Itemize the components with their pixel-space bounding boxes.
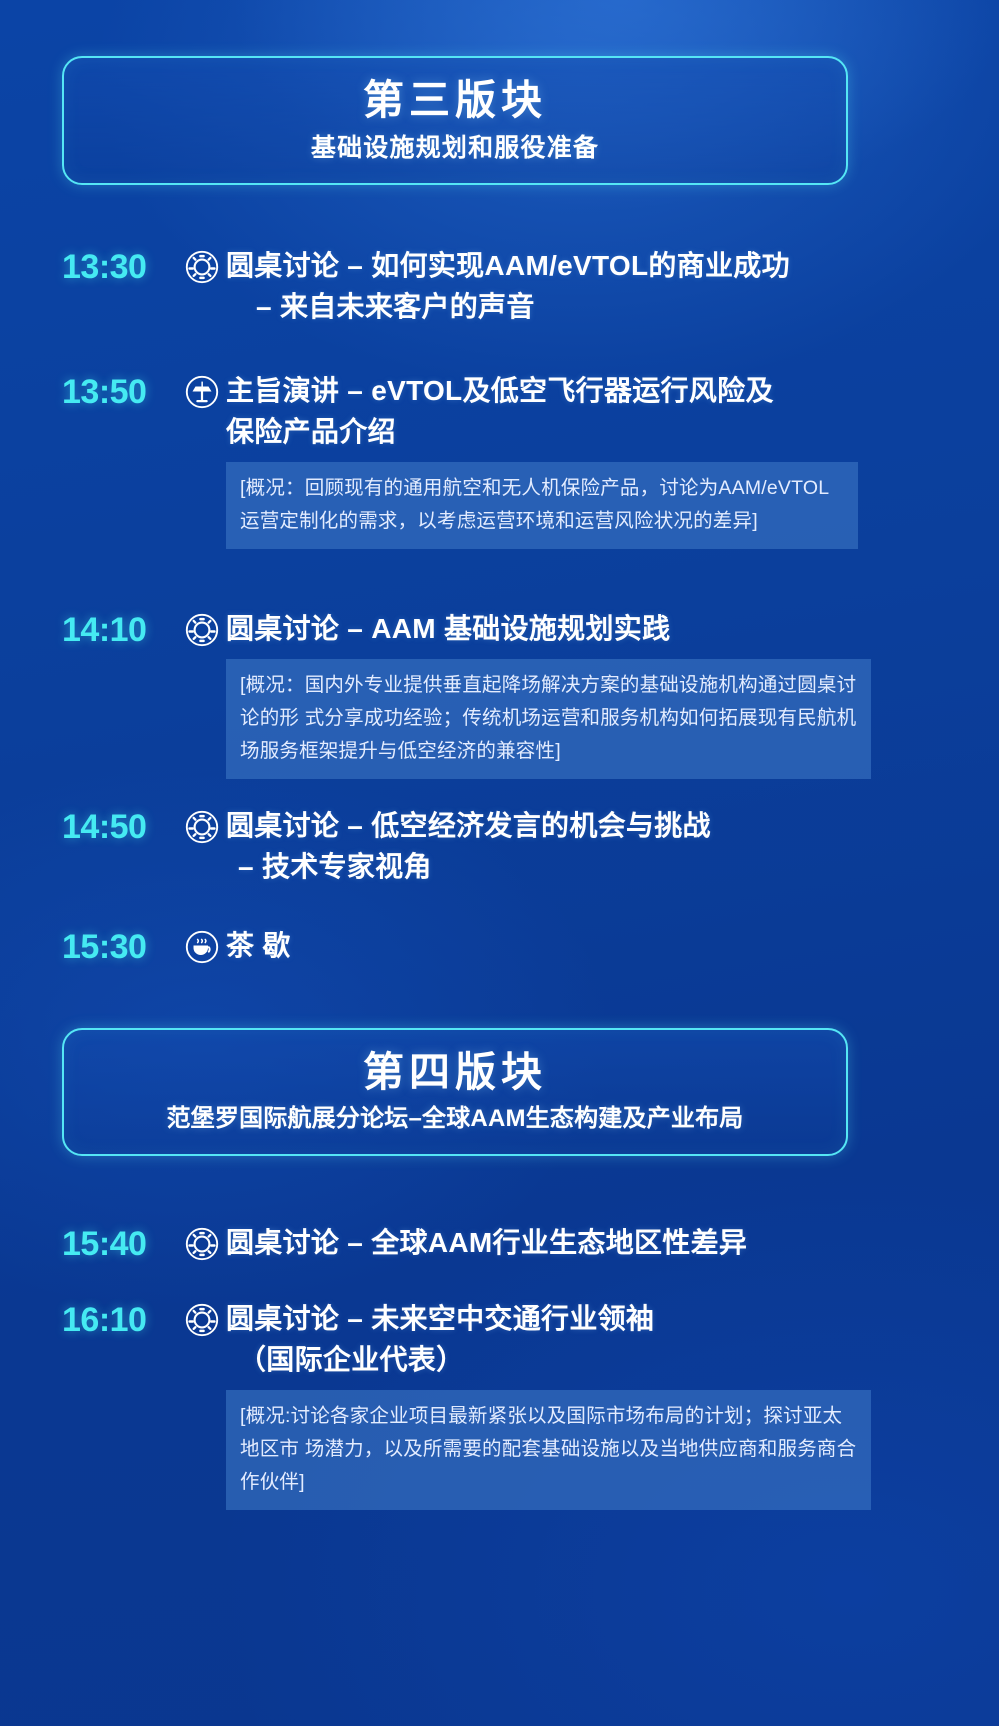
agenda-time: 14:10: [62, 608, 178, 652]
agenda-body: 茶 歇: [226, 925, 942, 966]
agenda-time: 16:10: [62, 1298, 178, 1342]
teacup-icon: [178, 925, 226, 969]
section-banner-3: 第三版块 基础设施规划和服役准备: [62, 56, 848, 185]
roundtable-icon: [178, 608, 226, 652]
section-4-title: 第四版块: [74, 1049, 836, 1096]
roundtable-icon: [178, 1298, 226, 1342]
agenda-title-line1: 主旨演讲 – eVTOL及低空飞行器运行风险及: [226, 375, 774, 406]
agenda-title: 圆桌讨论 – 低空经济发言的机会与挑战 – 技术专家视角: [226, 805, 942, 887]
roundtable-icon: [178, 245, 226, 289]
agenda-body: 圆桌讨论 – 如何实现AAM/eVTOL的商业成功 – 来自未来客户的声音: [226, 245, 942, 327]
agenda-row: 14:10 圆桌讨论 – AAM 基础设施规划实践 [概况：国内外专业提供垂直起…: [62, 608, 942, 779]
agenda-body: 圆桌讨论 – 低空经济发言的机会与挑战 – 技术专家视角: [226, 805, 942, 887]
agenda-body: 主旨演讲 – eVTOL及低空飞行器运行风险及 保险产品介绍 [概况：回顾现有的…: [226, 370, 942, 549]
agenda-body: 圆桌讨论 – 全球AAM行业生态地区性差异: [226, 1222, 942, 1263]
agenda-title: 圆桌讨论 – 未来空中交通行业领袖 （国际企业代表）: [226, 1298, 942, 1380]
agenda-title: 主旨演讲 – eVTOL及低空飞行器运行风险及 保险产品介绍: [226, 370, 942, 452]
agenda-title: 圆桌讨论 – 如何实现AAM/eVTOL的商业成功 – 来自未来客户的声音: [226, 245, 942, 327]
agenda-row: 15:30 茶 歇: [62, 925, 942, 969]
agenda-title-line1: 圆桌讨论 – 如何实现AAM/eVTOL的商业成功: [226, 250, 790, 281]
agenda-title: 圆桌讨论 – 全球AAM行业生态地区性差异: [226, 1222, 942, 1263]
agenda-row: 14:50 圆桌讨论 – 低空经济发言的机会与挑战 – 技术专家视角: [62, 805, 942, 887]
agenda-time: 15:40: [62, 1222, 178, 1266]
agenda-description: [概况：国内外专业提供垂直起降场解决方案的基础设施机构通过圆桌讨论的形 式分享成…: [226, 659, 871, 779]
agenda-title-line1: 圆桌讨论 – 未来空中交通行业领袖: [226, 1303, 654, 1334]
agenda-body: 圆桌讨论 – AAM 基础设施规划实践 [概况：国内外专业提供垂直起降场解决方案…: [226, 608, 942, 779]
section-3-subtitle: 基础设施规划和服役准备: [74, 133, 836, 163]
agenda-time: 13:50: [62, 370, 178, 414]
agenda-time: 15:30: [62, 925, 178, 969]
agenda-title-line1: 圆桌讨论 – 低空经济发言的机会与挑战: [226, 810, 711, 841]
section-banner-4: 第四版块 范堡罗国际航展分论坛–全球AAM生态构建及产业布局: [62, 1028, 848, 1156]
roundtable-icon: [178, 805, 226, 849]
section-3-title: 第三版块: [74, 77, 836, 124]
section-4-subtitle: 范堡罗国际航展分论坛–全球AAM生态构建及产业布局: [74, 1105, 836, 1134]
agenda-row: 13:50 主旨演讲 – eVTOL及低空飞行器运行风险及 保险产品介绍 [概况…: [62, 370, 942, 549]
agenda-title-line2: – 来自未来客户的声音: [226, 286, 942, 327]
agenda-description: [概况：回顾现有的通用航空和无人机保险产品，讨论为AAM/eVTOL运营定制化的…: [226, 462, 858, 549]
agenda-title-line1: 圆桌讨论 – 全球AAM行业生态地区性差异: [226, 1227, 747, 1258]
agenda-description: [概况:讨论各家企业项目最新紧张以及国际市场布局的计划；探讨亚太地区市 场潜力，…: [226, 1390, 871, 1510]
agenda-title-line2: – 技术专家视角: [226, 846, 942, 887]
agenda-title: 圆桌讨论 – AAM 基础设施规划实践: [226, 608, 942, 649]
agenda-title: 茶 歇: [226, 925, 942, 966]
agenda-body: 圆桌讨论 – 未来空中交通行业领袖 （国际企业代表） [概况:讨论各家企业项目最…: [226, 1298, 942, 1510]
agenda-title-line2: （国际企业代表）: [226, 1339, 942, 1380]
agenda-time: 13:30: [62, 245, 178, 289]
roundtable-icon: [178, 1222, 226, 1266]
agenda-title-line1: 圆桌讨论 – AAM 基础设施规划实践: [226, 613, 670, 644]
agenda-row: 13:30 圆桌讨论 – 如何实现AAM/eVTOL的商业成功 – 来自未来客户…: [62, 245, 942, 327]
agenda-row: 15:40 圆桌讨论 – 全球AAM行业生态地区性差异: [62, 1222, 942, 1266]
agenda-title-line2: 保险产品介绍: [226, 411, 942, 452]
podium-icon: [178, 370, 226, 414]
agenda-row: 16:10 圆桌讨论 – 未来空中交通行业领袖 （国际企业代表） [概况:讨论各…: [62, 1298, 942, 1510]
agenda-time: 14:50: [62, 805, 178, 849]
agenda-title-line1: 茶 歇: [226, 930, 291, 961]
agenda-poster: 第三版块 基础设施规划和服役准备 13:30 圆桌讨论 – 如何实现AAM/eV…: [0, 0, 999, 1726]
